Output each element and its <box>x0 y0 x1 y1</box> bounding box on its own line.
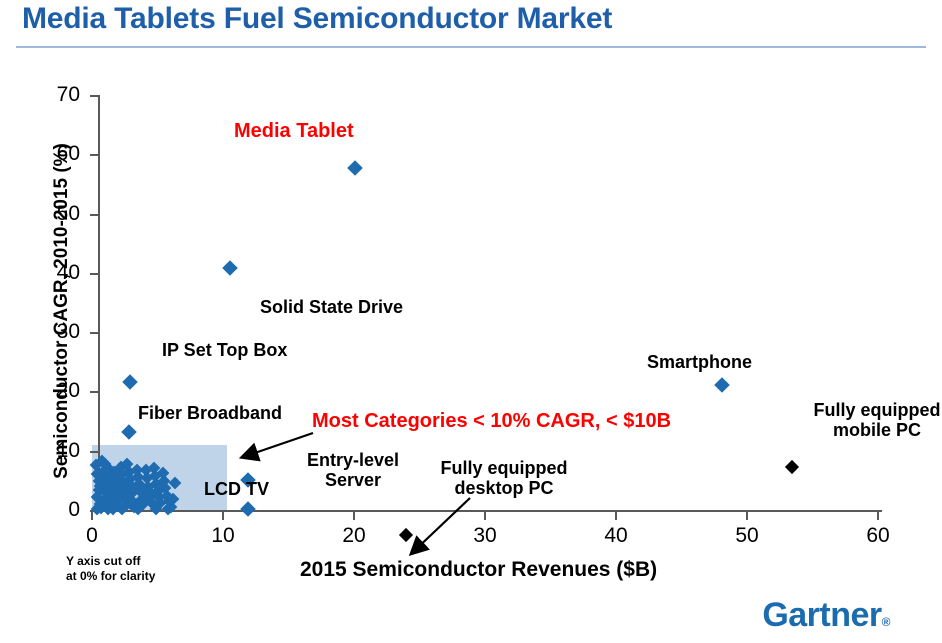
data-point-labeled <box>784 460 798 474</box>
x-tick-label: 30 <box>455 524 515 548</box>
x-axis-title: 2015 Semiconductor Revenues ($B) <box>300 558 657 582</box>
data-point <box>137 498 150 511</box>
data-point <box>105 490 118 503</box>
y-tick <box>90 451 98 453</box>
data-point <box>112 500 125 513</box>
x-tick <box>484 512 486 520</box>
y-tick-label: 40 <box>34 261 80 285</box>
annotation-callout: Most Categories < 10% CAGR, < $10B <box>312 410 671 432</box>
data-point <box>108 466 121 479</box>
data-point <box>109 473 122 486</box>
data-point <box>103 469 116 482</box>
data-point-labeled <box>348 160 364 176</box>
cutoff-note-line1: Y axis cut off <box>66 554 140 568</box>
y-tick <box>90 510 98 512</box>
data-point <box>152 490 165 503</box>
data-point <box>99 486 112 499</box>
gartner-logo: Gartner® <box>762 596 890 635</box>
annotation-lcd-tv: LCD TV <box>204 479 269 499</box>
data-point <box>91 491 104 504</box>
data-point <box>167 493 180 506</box>
annotation-fully-equipped-desktop-pc: Fully equipped desktop PC <box>428 458 580 498</box>
data-point <box>145 495 158 508</box>
data-point <box>125 480 138 493</box>
data-point <box>155 479 168 492</box>
y-tick <box>90 391 98 393</box>
data-point <box>118 492 131 505</box>
data-point <box>146 487 159 500</box>
y-axis-cutoff-note: Y axis cut off at 0% for clarity <box>66 554 155 584</box>
title-divider <box>16 46 926 48</box>
data-point <box>150 477 163 490</box>
y-tick-label: 50 <box>34 202 80 226</box>
annotation-entry-level-server: Entry-level Server <box>297 450 409 490</box>
annotation-arrows <box>0 0 942 643</box>
entry-level-server-line1: Entry-level <box>307 450 399 470</box>
data-point <box>162 502 175 515</box>
data-point <box>101 503 114 516</box>
data-point <box>147 461 160 474</box>
data-point <box>114 489 127 502</box>
data-point <box>116 503 129 516</box>
data-point <box>96 455 109 468</box>
slide-canvas: Media Tablets Fuel Semiconductor Market … <box>0 0 942 643</box>
y-tick-label: 60 <box>34 142 80 166</box>
annotation-fiber-broadband: Fiber Broadband <box>138 403 282 423</box>
y-tick <box>90 273 98 275</box>
gartner-wordmark: Gartner <box>762 596 881 634</box>
data-point <box>91 503 104 516</box>
entry-level-server-line2: Server <box>325 470 381 490</box>
scatter-chart: 010203040506070 0102030405060 Semiconduc… <box>0 0 942 643</box>
data-point <box>126 496 139 509</box>
data-point <box>143 489 156 502</box>
data-point <box>97 471 110 484</box>
page-title: Media Tablets Fuel Semiconductor Market <box>22 2 612 36</box>
data-point <box>103 476 116 489</box>
y-axis-title: Semiconductor CAGR, 2010-2015 (%) <box>51 101 73 521</box>
data-point <box>97 464 110 477</box>
annotation-smartphone: Smartphone <box>647 352 752 372</box>
y-tick <box>90 154 98 156</box>
x-tick-label: 20 <box>324 524 384 548</box>
x-tick-label: 10 <box>193 524 253 548</box>
data-point <box>90 458 103 471</box>
data-point <box>131 503 144 516</box>
data-point <box>99 458 112 471</box>
data-point-labeled <box>122 374 138 390</box>
data-point <box>138 486 151 499</box>
x-tick-label: 50 <box>717 524 777 548</box>
y-axis-line <box>98 95 100 512</box>
data-point <box>107 483 120 496</box>
mobile-pc-line2: mobile PC <box>833 420 921 440</box>
data-point <box>129 482 142 495</box>
highlight-region <box>92 445 227 511</box>
data-point <box>121 457 134 470</box>
data-point <box>105 496 118 509</box>
data-point <box>112 494 125 507</box>
data-point <box>150 502 163 515</box>
y-tick <box>90 332 98 334</box>
data-point <box>92 483 105 496</box>
x-tick <box>877 512 879 520</box>
x-tick <box>615 512 617 520</box>
data-point <box>130 463 143 476</box>
x-tick-label: 40 <box>586 524 646 548</box>
data-point <box>120 499 133 512</box>
annotation-fully-equipped-mobile-pc: Fully equipped mobile PC <box>806 400 942 440</box>
y-tick-label: 70 <box>34 83 80 107</box>
data-point <box>100 499 113 512</box>
data-point-labeled <box>121 424 137 440</box>
data-point <box>93 480 106 493</box>
x-tick <box>91 512 93 520</box>
data-point <box>114 460 127 473</box>
y-tick-label: 30 <box>34 320 80 344</box>
data-point <box>131 470 144 483</box>
cutoff-note-line2: at 0% for clarity <box>66 569 155 583</box>
data-point <box>101 462 114 475</box>
data-point <box>92 475 105 488</box>
y-tick <box>90 214 98 216</box>
data-point <box>99 479 112 492</box>
data-point <box>159 482 172 495</box>
data-point <box>134 485 147 498</box>
x-axis-line <box>92 510 882 512</box>
x-tick <box>746 512 748 520</box>
data-point <box>109 480 122 493</box>
data-point <box>91 467 104 480</box>
data-point <box>128 501 141 514</box>
data-point-labeled <box>240 501 256 517</box>
data-point <box>125 488 138 501</box>
data-point <box>141 472 154 485</box>
annotation-ip-set-top-box: IP Set Top Box <box>162 340 287 360</box>
x-tick <box>222 512 224 520</box>
data-point <box>95 502 108 515</box>
data-point <box>154 497 167 510</box>
data-point <box>135 492 148 505</box>
data-point <box>139 464 152 477</box>
data-point <box>168 476 181 489</box>
mobile-pc-line1: Fully equipped <box>813 400 940 420</box>
registered-mark: ® <box>882 615 890 629</box>
data-point-labeled <box>714 377 730 393</box>
data-point <box>117 484 130 497</box>
data-point <box>151 484 164 497</box>
y-tick-label: 10 <box>34 439 80 463</box>
data-point <box>124 473 137 486</box>
data-point <box>122 465 135 478</box>
y-tick <box>90 95 98 97</box>
annotation-media-tablet: Media Tablet <box>234 120 354 142</box>
data-point <box>156 467 169 480</box>
desktop-pc-line1: Fully equipped <box>440 458 567 478</box>
data-point <box>107 502 120 515</box>
data-point-labeled <box>240 472 256 488</box>
data-point <box>111 487 124 500</box>
data-point <box>113 475 126 488</box>
data-point <box>104 483 117 496</box>
data-point <box>116 468 129 481</box>
data-point <box>158 474 171 487</box>
annotation-solid-state-drive: Solid State Drive <box>260 297 403 317</box>
data-point <box>120 482 133 495</box>
data-point-labeled <box>399 528 413 542</box>
data-point <box>164 500 177 513</box>
data-point <box>149 470 162 483</box>
data-point <box>93 498 106 511</box>
desktop-pc-line2: desktop PC <box>454 478 553 498</box>
y-tick-label: 20 <box>34 379 80 403</box>
x-tick <box>353 512 355 520</box>
data-point <box>160 489 173 502</box>
data-point <box>100 493 113 506</box>
data-point-labeled <box>222 260 238 276</box>
data-point <box>142 481 155 494</box>
data-point <box>116 476 129 489</box>
x-tick-label: 60 <box>848 524 908 548</box>
y-tick-label: 0 <box>34 498 80 522</box>
data-point <box>163 495 176 508</box>
x-tick-label: 0 <box>62 524 122 548</box>
data-point <box>133 478 146 491</box>
